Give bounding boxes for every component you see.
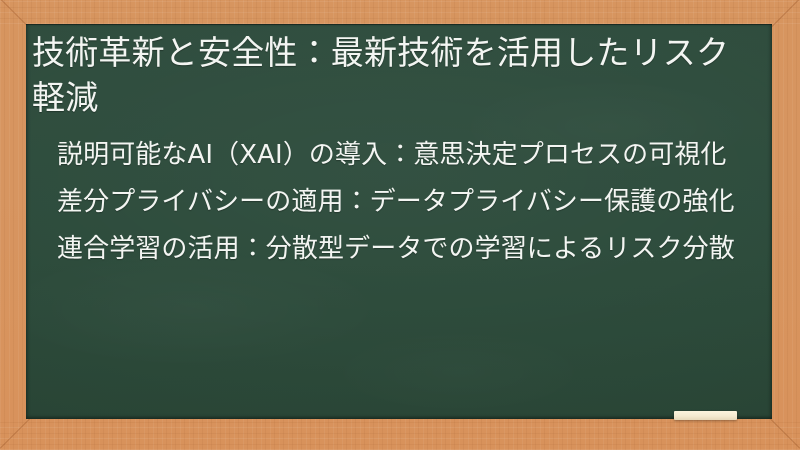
bullet-item: 連合学習の活用：分散型データでの学習によるリスク分散 [57,231,750,267]
slide-canvas: 技術革新と安全性：最新技術を活用したリスク軽減 説明可能なAI（XAI）の導入：… [0,0,800,450]
chalkboard: 技術革新と安全性：最新技術を活用したリスク軽減 説明可能なAI（XAI）の導入：… [26,24,772,419]
chalkboard-content: 技術革新と安全性：最新技術を活用したリスク軽減 説明可能なAI（XAI）の導入：… [26,24,772,267]
bullet-item: 差分プライバシーの適用：データプライバシー保護の強化 [57,184,750,220]
chalk-stick [674,411,737,420]
bullet-item: 説明可能なAI（XAI）の導入：意思決定プロセスの可視化 [57,137,750,173]
slide-title: 技術革新と安全性：最新技術を活用したリスク軽減 [32,30,754,120]
wood-frame-bottom-rail [0,419,800,450]
wood-frame-top-rail [0,0,800,24]
bullet-list: 説明可能なAI（XAI）の導入：意思決定プロセスの可視化 差分プライバシーの適用… [32,137,754,267]
